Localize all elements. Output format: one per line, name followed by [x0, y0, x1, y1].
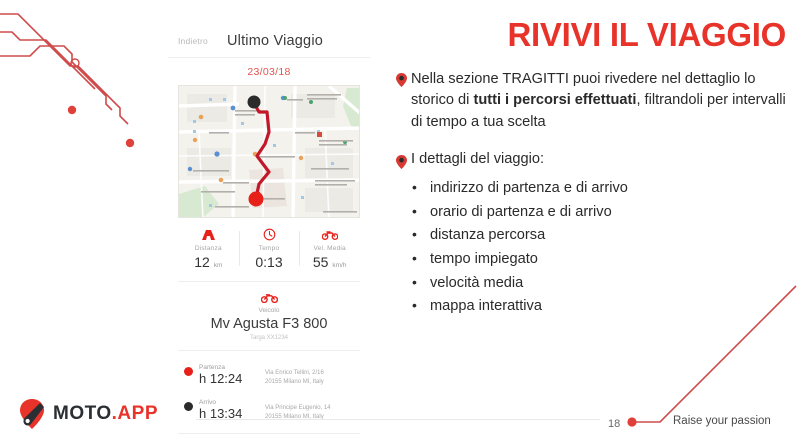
motorcycle-icon	[299, 227, 360, 242]
phone-header: Indietro Ultimo Viaggio	[168, 0, 370, 58]
vehicle-section: Veicolo Mv Agusta F3 800 Targa XX1234	[178, 282, 360, 351]
list-title-row: I dettagli del viaggio:	[396, 151, 794, 174]
brand-logo: MOTO.APP	[18, 398, 158, 430]
start-dot-icon	[184, 367, 193, 376]
slide-root: Indietro Ultimo Viaggio 23/03/18	[0, 0, 800, 448]
waypoint-address: Via Enrico Tellini, 2/16 20155 Milano MI…	[265, 369, 324, 388]
decorative-circuit-lines-top-left	[0, 0, 175, 155]
stat-label: Distanza	[178, 245, 239, 252]
list-item: orario di partenza e di arrivo	[396, 201, 794, 225]
stat-label: Vel. Media	[299, 245, 360, 252]
map-canvas	[179, 86, 360, 218]
stat-distanza: Distanza 12 km	[178, 227, 239, 270]
paragraph-text: Nella sezione TRAGITTI puoi rivedere nel…	[411, 69, 794, 133]
content-column: RIVIVI IL VIAGGIO Nella sezione TRAGITTI…	[396, 18, 794, 319]
paragraph-bold: tutti i percorsi effettuati	[473, 92, 636, 108]
stat-vel-media: Vel. Media 55 km/h	[299, 227, 360, 270]
stat-tempo: Tempo 0:13	[239, 227, 300, 270]
list-item: velocità media	[396, 272, 794, 296]
map-pin-icon	[396, 69, 411, 133]
motorcycle-icon	[178, 290, 360, 304]
map-pin-icon	[396, 151, 411, 174]
list-item: indirizzo di partenza e di arrivo	[396, 177, 794, 201]
back-button[interactable]: Indietro	[178, 36, 208, 46]
list-item: mappa interattiva	[396, 295, 794, 319]
stat-value: 12 km	[178, 254, 239, 270]
map-start-marker	[248, 96, 261, 109]
brand-logo-text: MOTO.APP	[53, 403, 158, 425]
waypoints-list: Partenza h 12:24 Via Enrico Tellini, 2/1…	[178, 351, 360, 434]
page-title: RIVIVI IL VIAGGIO	[396, 18, 794, 53]
vehicle-label: Veicolo	[178, 307, 360, 314]
page-number: 18	[608, 418, 620, 430]
stat-value: 55 km/h	[299, 254, 360, 270]
waypoint-partenza: Partenza h 12:24 Via Enrico Tellini, 2/1…	[178, 360, 360, 395]
address-line-2: 20155 Milano MI, Italy	[265, 413, 331, 422]
details-block: I dettagli del viaggio: indirizzo di par…	[396, 151, 794, 319]
address-line-1: Via Enrico Tellini, 2/16	[265, 369, 324, 378]
paragraph-block: Nella sezione TRAGITTI puoi rivedere nel…	[396, 69, 794, 133]
address-line-1: Via Principe Eugenio, 14	[265, 404, 331, 413]
details-list: indirizzo di partenza e di arrivo orario…	[396, 177, 794, 319]
logo-text-moto: MOTO	[53, 403, 112, 424]
divider	[178, 433, 360, 434]
end-dot-icon	[184, 402, 193, 411]
footer-divider	[196, 419, 600, 420]
list-item: tempo impiegato	[396, 248, 794, 272]
moto-app-pin-logo	[18, 398, 48, 430]
clock-icon	[239, 227, 300, 242]
map-end-marker	[249, 192, 264, 207]
stat-value: 0:13	[239, 254, 300, 270]
address-line-2: 20155 Milano MI, Italy	[265, 378, 324, 387]
stat-label: Tempo	[239, 245, 300, 252]
details-title: I dettagli del viaggio:	[411, 151, 544, 174]
trip-date: 23/03/18	[168, 58, 370, 85]
trip-stats: Distanza 12 km Tempo 0:13 Vel. Media 55 …	[178, 218, 360, 282]
tagline: Raise your passion	[673, 415, 771, 427]
waypoint-kind: Arrivo	[199, 399, 265, 406]
list-item: distanza percorsa	[396, 224, 794, 248]
waypoint-arrivo: Arrivo h 13:34 Via Principe Eugenio, 14 …	[178, 395, 360, 430]
phone-mockup: Indietro Ultimo Viaggio 23/03/18	[168, 0, 370, 448]
route-icon	[178, 227, 239, 242]
vehicle-name: Mv Agusta F3 800	[178, 316, 360, 332]
waypoint-kind: Partenza	[199, 364, 265, 371]
trip-map[interactable]	[178, 85, 360, 218]
vehicle-plate: Targa XX1234	[178, 335, 360, 341]
logo-text-app: .APP	[112, 403, 158, 424]
waypoint-time: h 12:24	[199, 371, 265, 386]
